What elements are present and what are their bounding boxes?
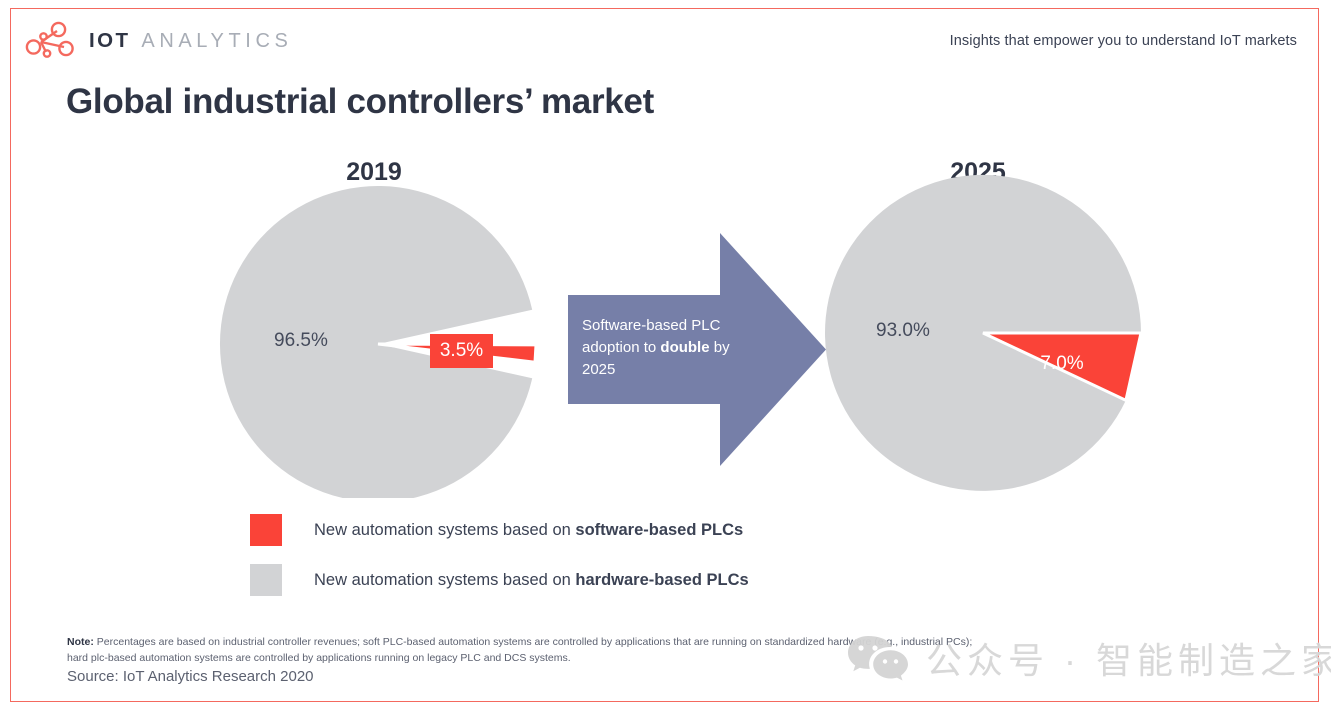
legend-label-software-pre: New automation systems based on (314, 521, 575, 539)
footnote-label: Note: (67, 636, 94, 648)
pie-label-2019-software: 3.5% (430, 334, 493, 368)
pie-chart-2019 (212, 178, 547, 498)
legend-label-hardware: New automation systems based on hardware… (314, 571, 749, 590)
brand-iot-text: IOT (89, 29, 130, 53)
pie-chart-2025 (817, 167, 1152, 497)
legend-label-software-bold: software-based PLCs (575, 521, 743, 539)
arrow-caption-line1: Software-based PLC (582, 317, 720, 334)
legend-swatch-software-icon (250, 514, 282, 546)
arrow-caption-line2-pre: adoption to (582, 339, 660, 356)
slide-canvas: IOT ANALYTICS Insights that empower you … (0, 0, 1331, 712)
pie-label-2025-software: 7.0% (1031, 348, 1093, 379)
pie-label-2025-hardware: 93.0% (876, 320, 930, 342)
legend-item-software: New automation systems based on software… (250, 514, 749, 546)
arrow-caption-line2-post: by (710, 339, 730, 356)
network-nodes-icon (24, 20, 76, 62)
footnote: Note: Percentages are based on industria… (67, 634, 977, 666)
pie-label-2019-hardware: 96.5% (274, 330, 328, 352)
page-header: IOT ANALYTICS Insights that empower you … (10, 8, 1319, 74)
arrow-caption: Software-based PLC adoption to double by… (582, 315, 748, 381)
source-line: Source: IoT Analytics Research 2020 (67, 668, 314, 685)
chart-legend: New automation systems based on software… (250, 514, 749, 614)
wechat-icon (846, 632, 910, 684)
legend-label-hardware-pre: New automation systems based on (314, 571, 575, 589)
legend-swatch-hardware-icon (250, 564, 282, 596)
page-title: Global industrial controllers’ market (66, 82, 654, 122)
brand-lockup: IOT ANALYTICS (24, 20, 292, 62)
legend-label-hardware-bold: hardware-based PLCs (575, 571, 748, 589)
wechat-watermark: 公众号 · 智能制造之家 (846, 632, 1331, 684)
legend-item-hardware: New automation systems based on hardware… (250, 564, 749, 596)
arrow-caption-line3: 2025 (582, 361, 615, 378)
legend-label-software: New automation systems based on software… (314, 521, 743, 540)
arrow-caption-line2-bold: double (660, 339, 709, 356)
footnote-text: Percentages are based on industrial cont… (67, 636, 972, 664)
transition-arrow: Software-based PLC adoption to double by… (568, 233, 826, 466)
header-tagline: Insights that empower you to understand … (950, 33, 1297, 49)
brand-wordmark: IOT ANALYTICS (89, 29, 292, 53)
brand-analytics-text: ANALYTICS (141, 30, 292, 53)
watermark-text: 公众号 · 智能制造之家 (926, 632, 1331, 684)
